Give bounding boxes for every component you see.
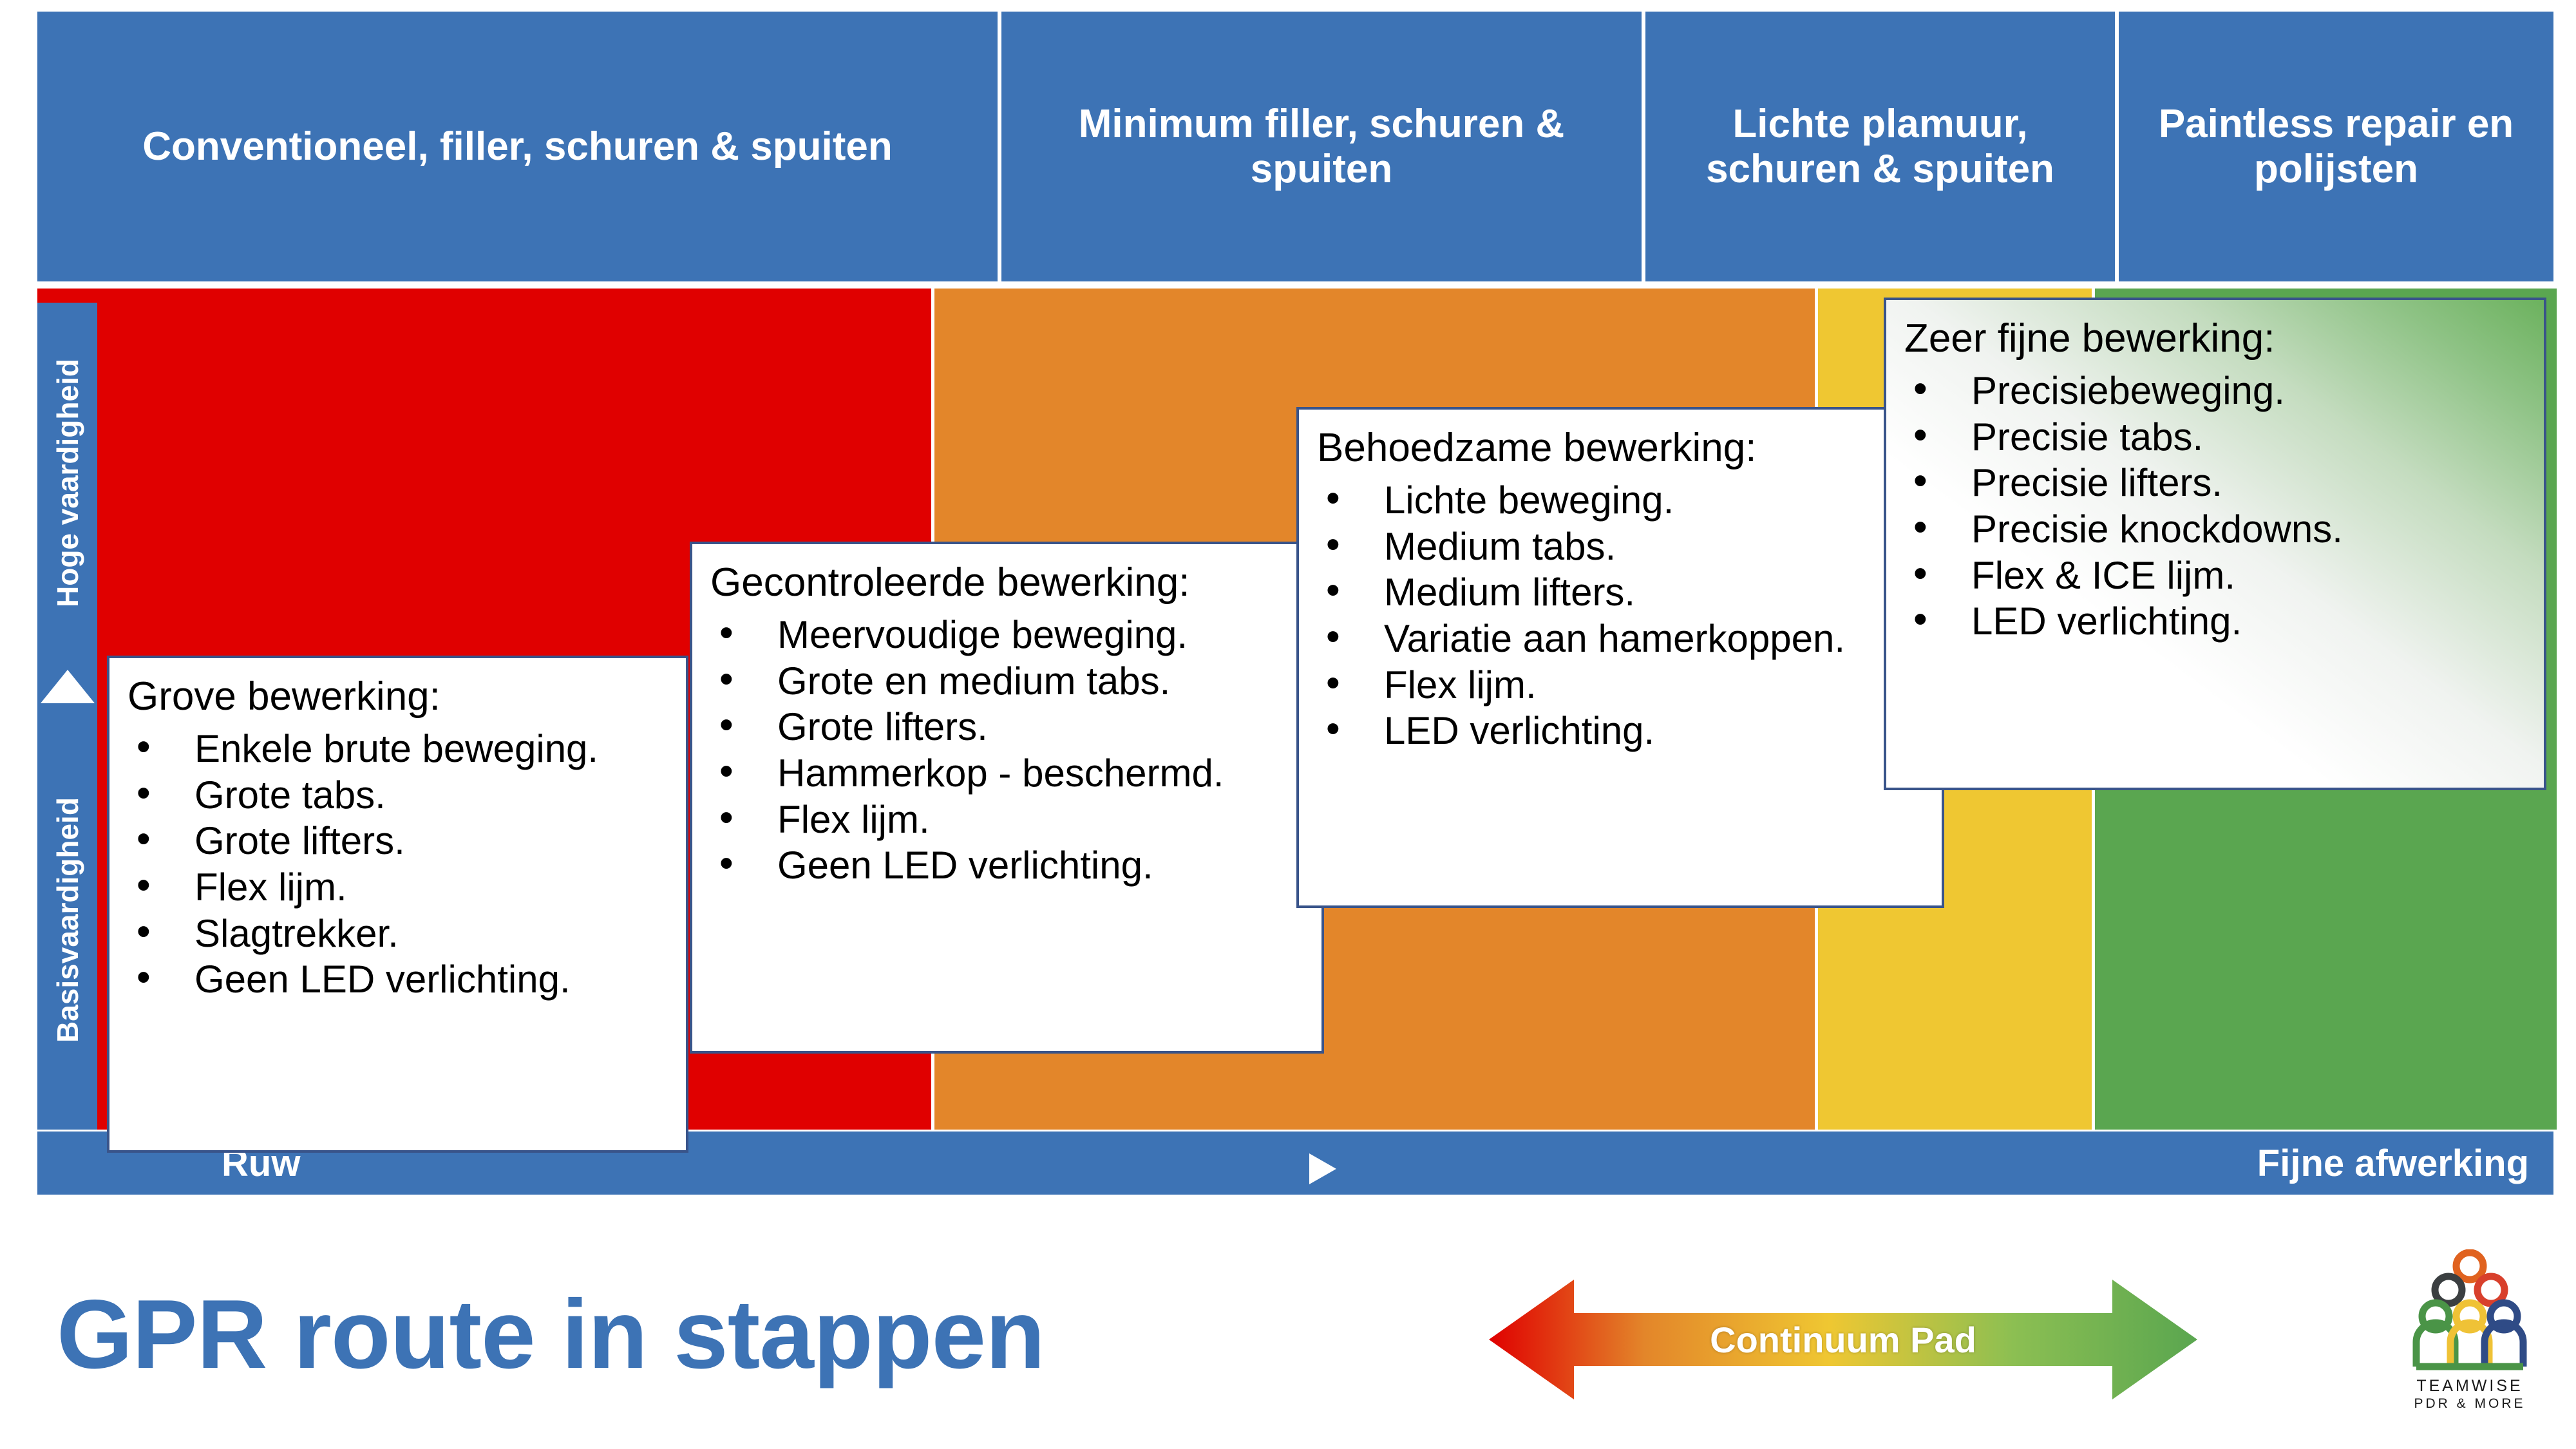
callout-grove-bewerking[interactable]: Grove bewerking: Enkele brute beweging. …: [107, 656, 688, 1153]
up-triangle-icon: [41, 670, 95, 703]
logo-subtitle: PDR & MORE: [2376, 1396, 2563, 1412]
callout-list: Precisiebeweging. Precisie tabs. Precisi…: [1904, 368, 2524, 644]
list-item: Grote tabs.: [128, 773, 667, 818]
logo-text-block: TEAMWISE PDR & MORE: [2376, 1377, 2563, 1412]
list-item: Hammerkop - beschermd.: [710, 751, 1302, 796]
double-arrow-icon: [1489, 1278, 2197, 1401]
list-item: Grote en medium tabs.: [710, 659, 1302, 704]
header-cell-conventioneel[interactable]: Conventioneel, filler, schuren & spuiten: [37, 12, 1001, 281]
axis-label-fijne-afwerking: Fijne afwerking: [2257, 1142, 2529, 1185]
list-item: LED verlichting.: [1317, 708, 1922, 753]
header-cell-paintless-repair[interactable]: Paintless repair en polijsten: [2119, 12, 2553, 281]
header-cell-lichte-plamuur[interactable]: Lichte plamuur, schuren & spuiten: [1645, 12, 2119, 281]
callout-title: Zeer fijne bewerking:: [1904, 317, 2524, 361]
list-item: Variatie aan hamerkoppen.: [1317, 616, 1922, 661]
header-cell-minimum-filler[interactable]: Minimum filler, schuren & spuiten: [1001, 12, 1645, 281]
axis-label-hoge-vaardigheid: Hoge vaardigheid: [50, 303, 85, 663]
list-item: Precisie knockdowns.: [1904, 507, 2524, 552]
list-item: Grote lifters.: [710, 705, 1302, 750]
list-item: Flex & ICE lijm.: [1904, 553, 2524, 598]
list-item: Medium tabs.: [1317, 524, 1922, 569]
list-item: Geen LED verlichting.: [710, 843, 1302, 888]
continuum-pad-arrow: Continuum Pad: [1489, 1278, 2197, 1401]
callout-list: Lichte beweging. Medium tabs. Medium lif…: [1317, 478, 1922, 753]
callout-list: Enkele brute beweging. Grote tabs. Grote…: [128, 726, 667, 1002]
callout-list: Meervoudige beweging. Grote en medium ta…: [710, 612, 1302, 888]
list-item: Slagtrekker.: [128, 911, 667, 956]
logo-name: TEAMWISE: [2376, 1377, 2563, 1396]
list-item: Flex lijm.: [1317, 663, 1922, 708]
list-item: Precisie lifters.: [1904, 460, 2524, 506]
list-item: Flex lijm.: [710, 797, 1302, 842]
callout-title: Gecontroleerde bewerking:: [710, 561, 1302, 605]
teamwise-logo: TEAMWISE PDR & MORE: [2376, 1249, 2563, 1436]
right-triangle-icon: [1309, 1153, 1336, 1184]
teamwise-people-logo-icon: [2376, 1249, 2563, 1378]
list-item: Precisie tabs.: [1904, 415, 2524, 460]
page-title: GPR route in stappen: [57, 1278, 1045, 1391]
callout-title: Grove bewerking:: [128, 675, 667, 719]
callout-title: Behoedzame bewerking:: [1317, 426, 1922, 470]
list-item: Flex lijm.: [128, 865, 667, 910]
list-item: LED verlichting.: [1904, 599, 2524, 644]
axis-label-basisvaardigheid: Basisvaardigheid: [50, 711, 85, 1130]
list-item: Precisiebeweging.: [1904, 368, 2524, 413]
skill-axis-vertical: Hoge vaardigheid Basisvaardigheid: [37, 303, 97, 1130]
list-item: Medium lifters.: [1317, 570, 1922, 615]
list-item: Lichte beweging.: [1317, 478, 1922, 523]
list-item: Enkele brute beweging.: [128, 726, 667, 772]
list-item: Geen LED verlichting.: [128, 957, 667, 1002]
callout-zeer-fijne-bewerking[interactable]: Zeer fijne bewerking: Precisiebeweging. …: [1884, 298, 2546, 790]
list-item: Grote lifters.: [128, 819, 667, 864]
callout-behoedzame-bewerking[interactable]: Behoedzame bewerking: Lichte beweging. M…: [1296, 407, 1944, 908]
list-item: Meervoudige beweging.: [710, 612, 1302, 658]
method-header-row: Conventioneel, filler, schuren & spuiten…: [37, 12, 2553, 281]
callout-gecontroleerde-bewerking[interactable]: Gecontroleerde bewerking: Meervoudige be…: [690, 542, 1324, 1054]
